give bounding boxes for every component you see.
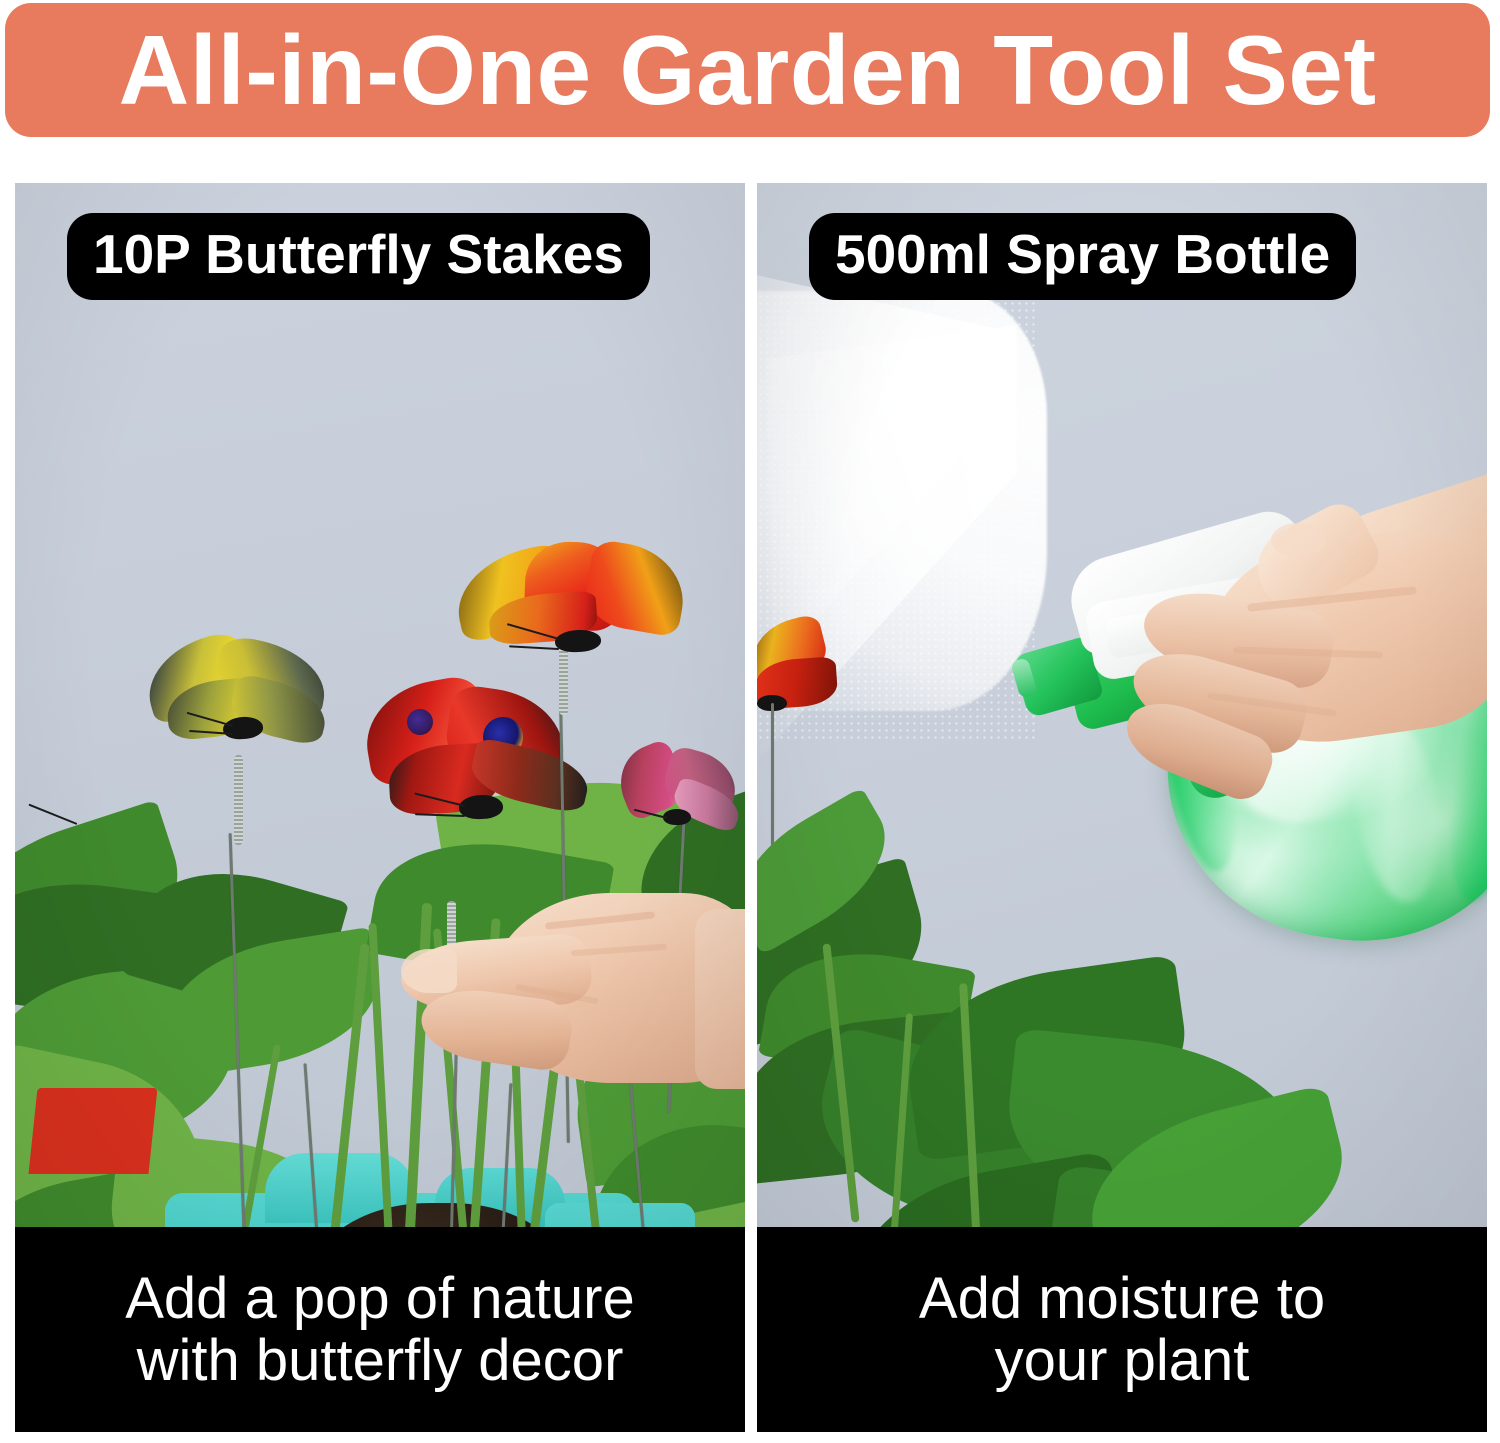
- header-banner: All-in-One Garden Tool Set: [5, 3, 1490, 137]
- panel-label-spray-bottle: 500ml Spray Bottle: [809, 213, 1356, 300]
- caption-spray-bottle: Add moisture to your plant: [757, 1227, 1487, 1432]
- hand-holding-bottle: [1057, 503, 1487, 933]
- product-panel-spray-bottle: 500ml Spray Bottle: [757, 183, 1487, 1227]
- panel-label-text: 10P Butterfly Stakes: [93, 227, 624, 282]
- caption-line-2: with butterfly decor: [137, 1330, 624, 1391]
- red-pot-accent: [28, 1088, 157, 1174]
- product-panel-butterfly-stakes: 10P Butterfly Stakes: [15, 183, 745, 1227]
- caption-line-1: Add moisture to: [919, 1268, 1325, 1329]
- page-title: All-in-One Garden Tool Set: [118, 21, 1376, 119]
- spray-bottle-photo: [757, 183, 1487, 1227]
- caption-butterfly-stakes: Add a pop of nature with butterfly decor: [15, 1227, 745, 1432]
- butterfly-orange-right-panel: [757, 621, 871, 717]
- panel-label-butterfly-stakes: 10P Butterfly Stakes: [67, 213, 650, 300]
- caption-line-1: Add a pop of nature: [125, 1268, 635, 1329]
- panel-label-text: 500ml Spray Bottle: [835, 227, 1330, 282]
- butterfly-stakes-photo: [15, 183, 745, 1227]
- caption-line-2: your plant: [995, 1330, 1250, 1391]
- hand-placing-stake: [395, 873, 745, 1203]
